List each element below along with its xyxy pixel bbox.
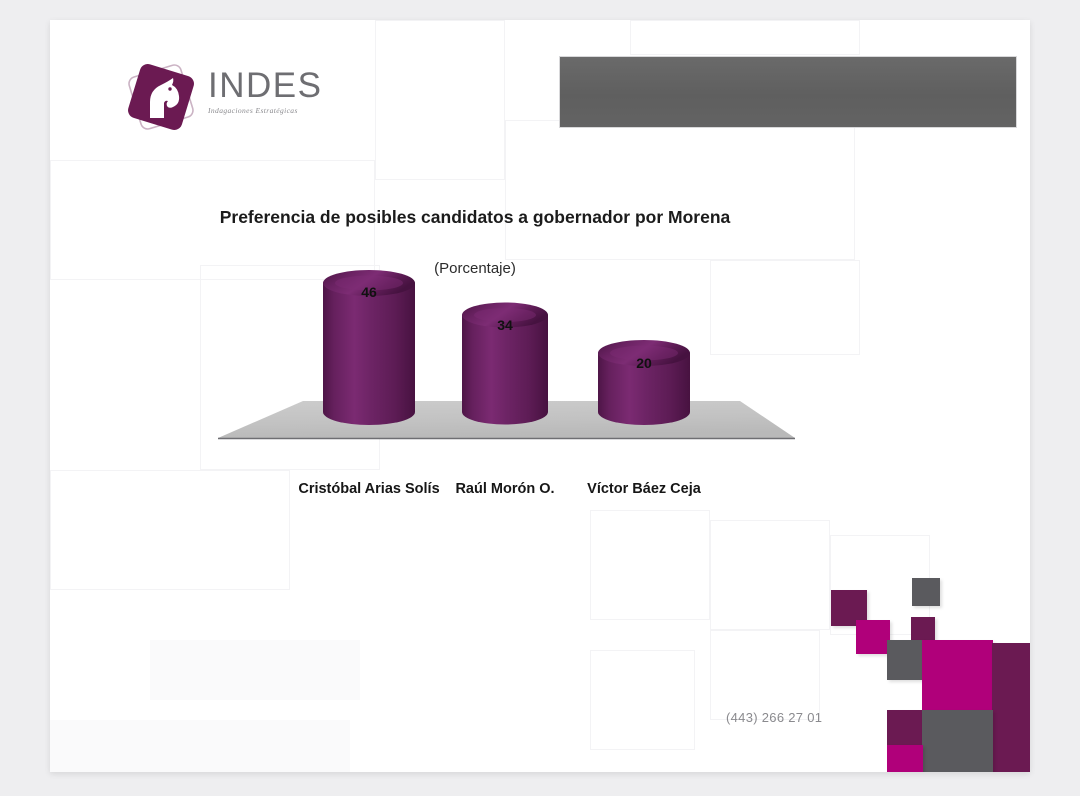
bar-value-1: 46 <box>339 284 399 300</box>
chart-plot-area <box>50 20 1030 772</box>
bar-value-2: 34 <box>475 317 535 333</box>
bar-cylinder-3 <box>598 340 690 425</box>
mosaic-square <box>922 710 993 772</box>
mosaic-square <box>856 620 890 654</box>
bar-chart: Preferencia de posibles candidatos a gob… <box>50 20 1030 772</box>
mosaic-square <box>887 640 924 680</box>
mosaic-square <box>887 745 923 772</box>
contact-phone: (443) 266 27 01 <box>726 710 822 725</box>
slide-canvas: INDES Indagaciones Estratégicas Preferen… <box>50 20 1030 772</box>
mosaic-square <box>992 643 1030 772</box>
mosaic-square <box>922 640 993 713</box>
bar-value-3: 20 <box>614 355 674 371</box>
mosaic-square <box>887 710 923 747</box>
mosaic-square <box>911 617 935 641</box>
bar-category-3: Víctor Báez Ceja <box>544 481 744 497</box>
mosaic-square <box>912 578 940 606</box>
